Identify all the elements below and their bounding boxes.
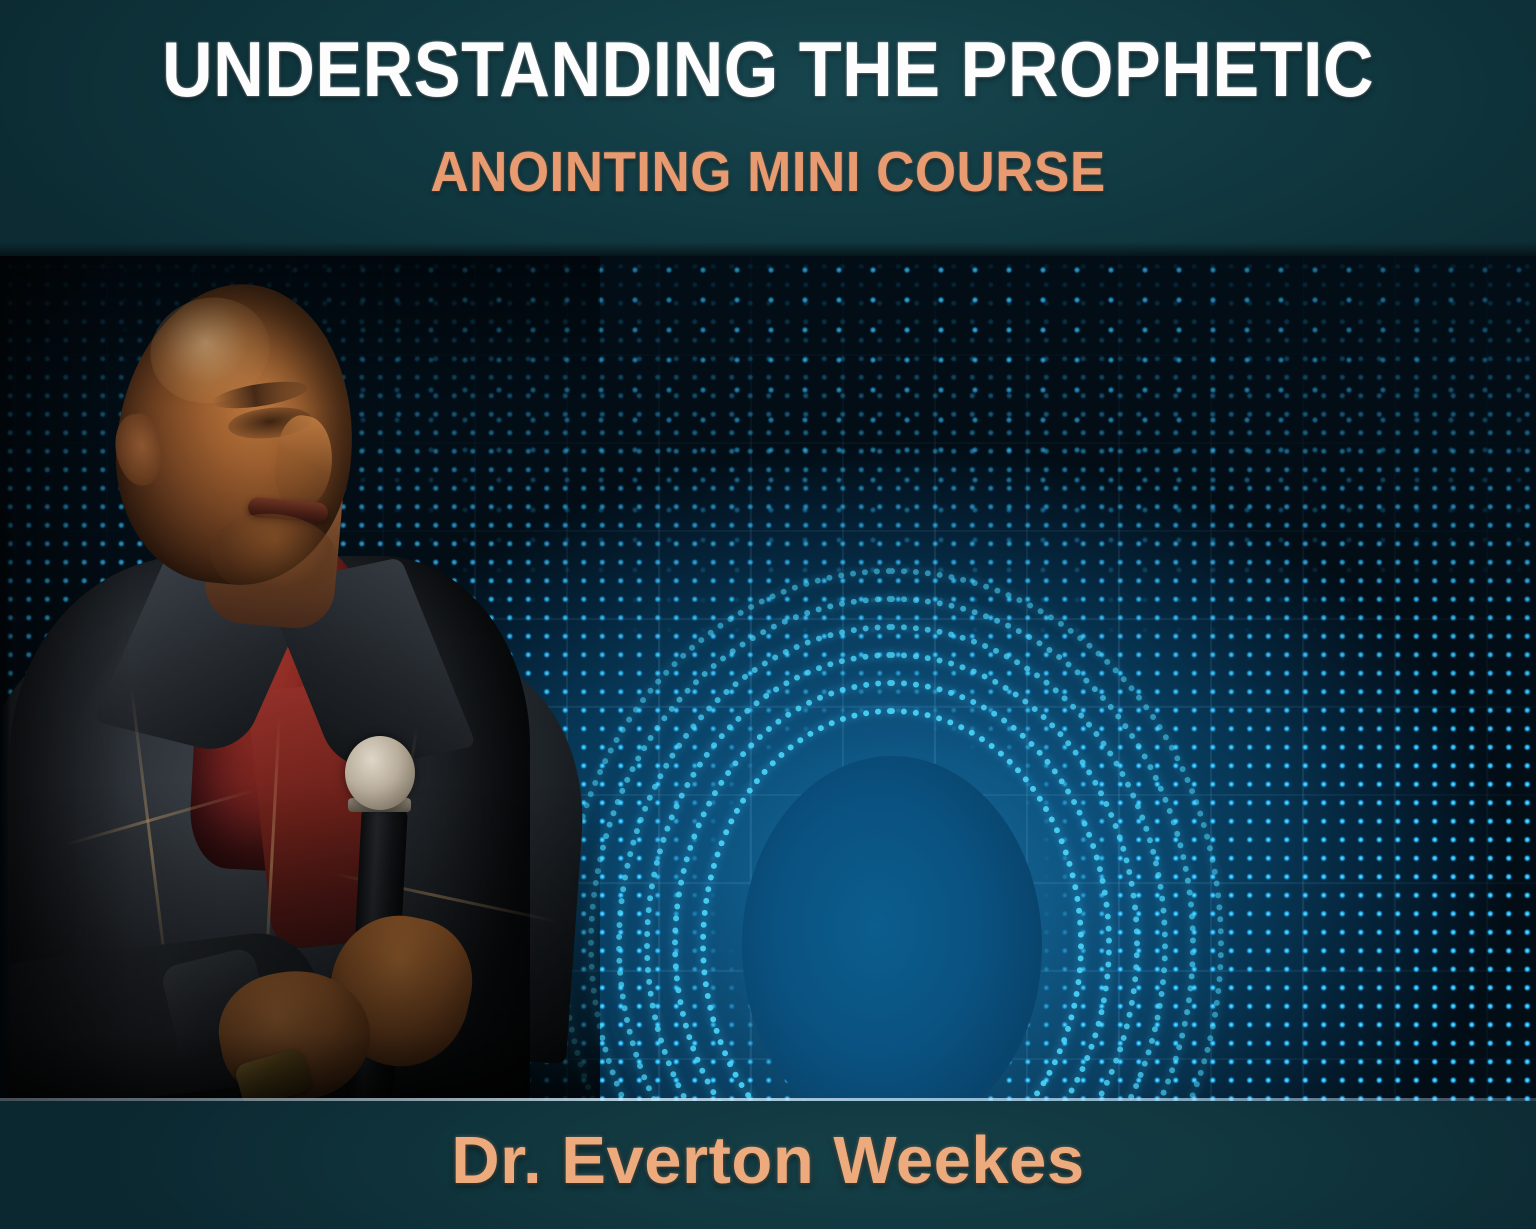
stage-photo [0, 256, 1536, 1101]
poster-footer-band: Dr. Everton Weekes [0, 1101, 1536, 1229]
page-title: UNDERSTANDING THE PROPHETIC [77, 26, 1459, 112]
poster-header-band: UNDERSTANDING THE PROPHETIC ANOINTING MI… [0, 0, 1536, 256]
photo-left-edge [0, 512, 11, 1101]
microphone-head [345, 736, 415, 810]
speaker-figure [0, 256, 600, 1101]
course-promo-poster: UNDERSTANDING THE PROPHETIC ANOINTING MI… [0, 0, 1536, 1229]
presenter-name: Dr. Everton Weekes [0, 1121, 1536, 1201]
page-subtitle: ANOINTING MINI COURSE [54, 140, 1482, 204]
